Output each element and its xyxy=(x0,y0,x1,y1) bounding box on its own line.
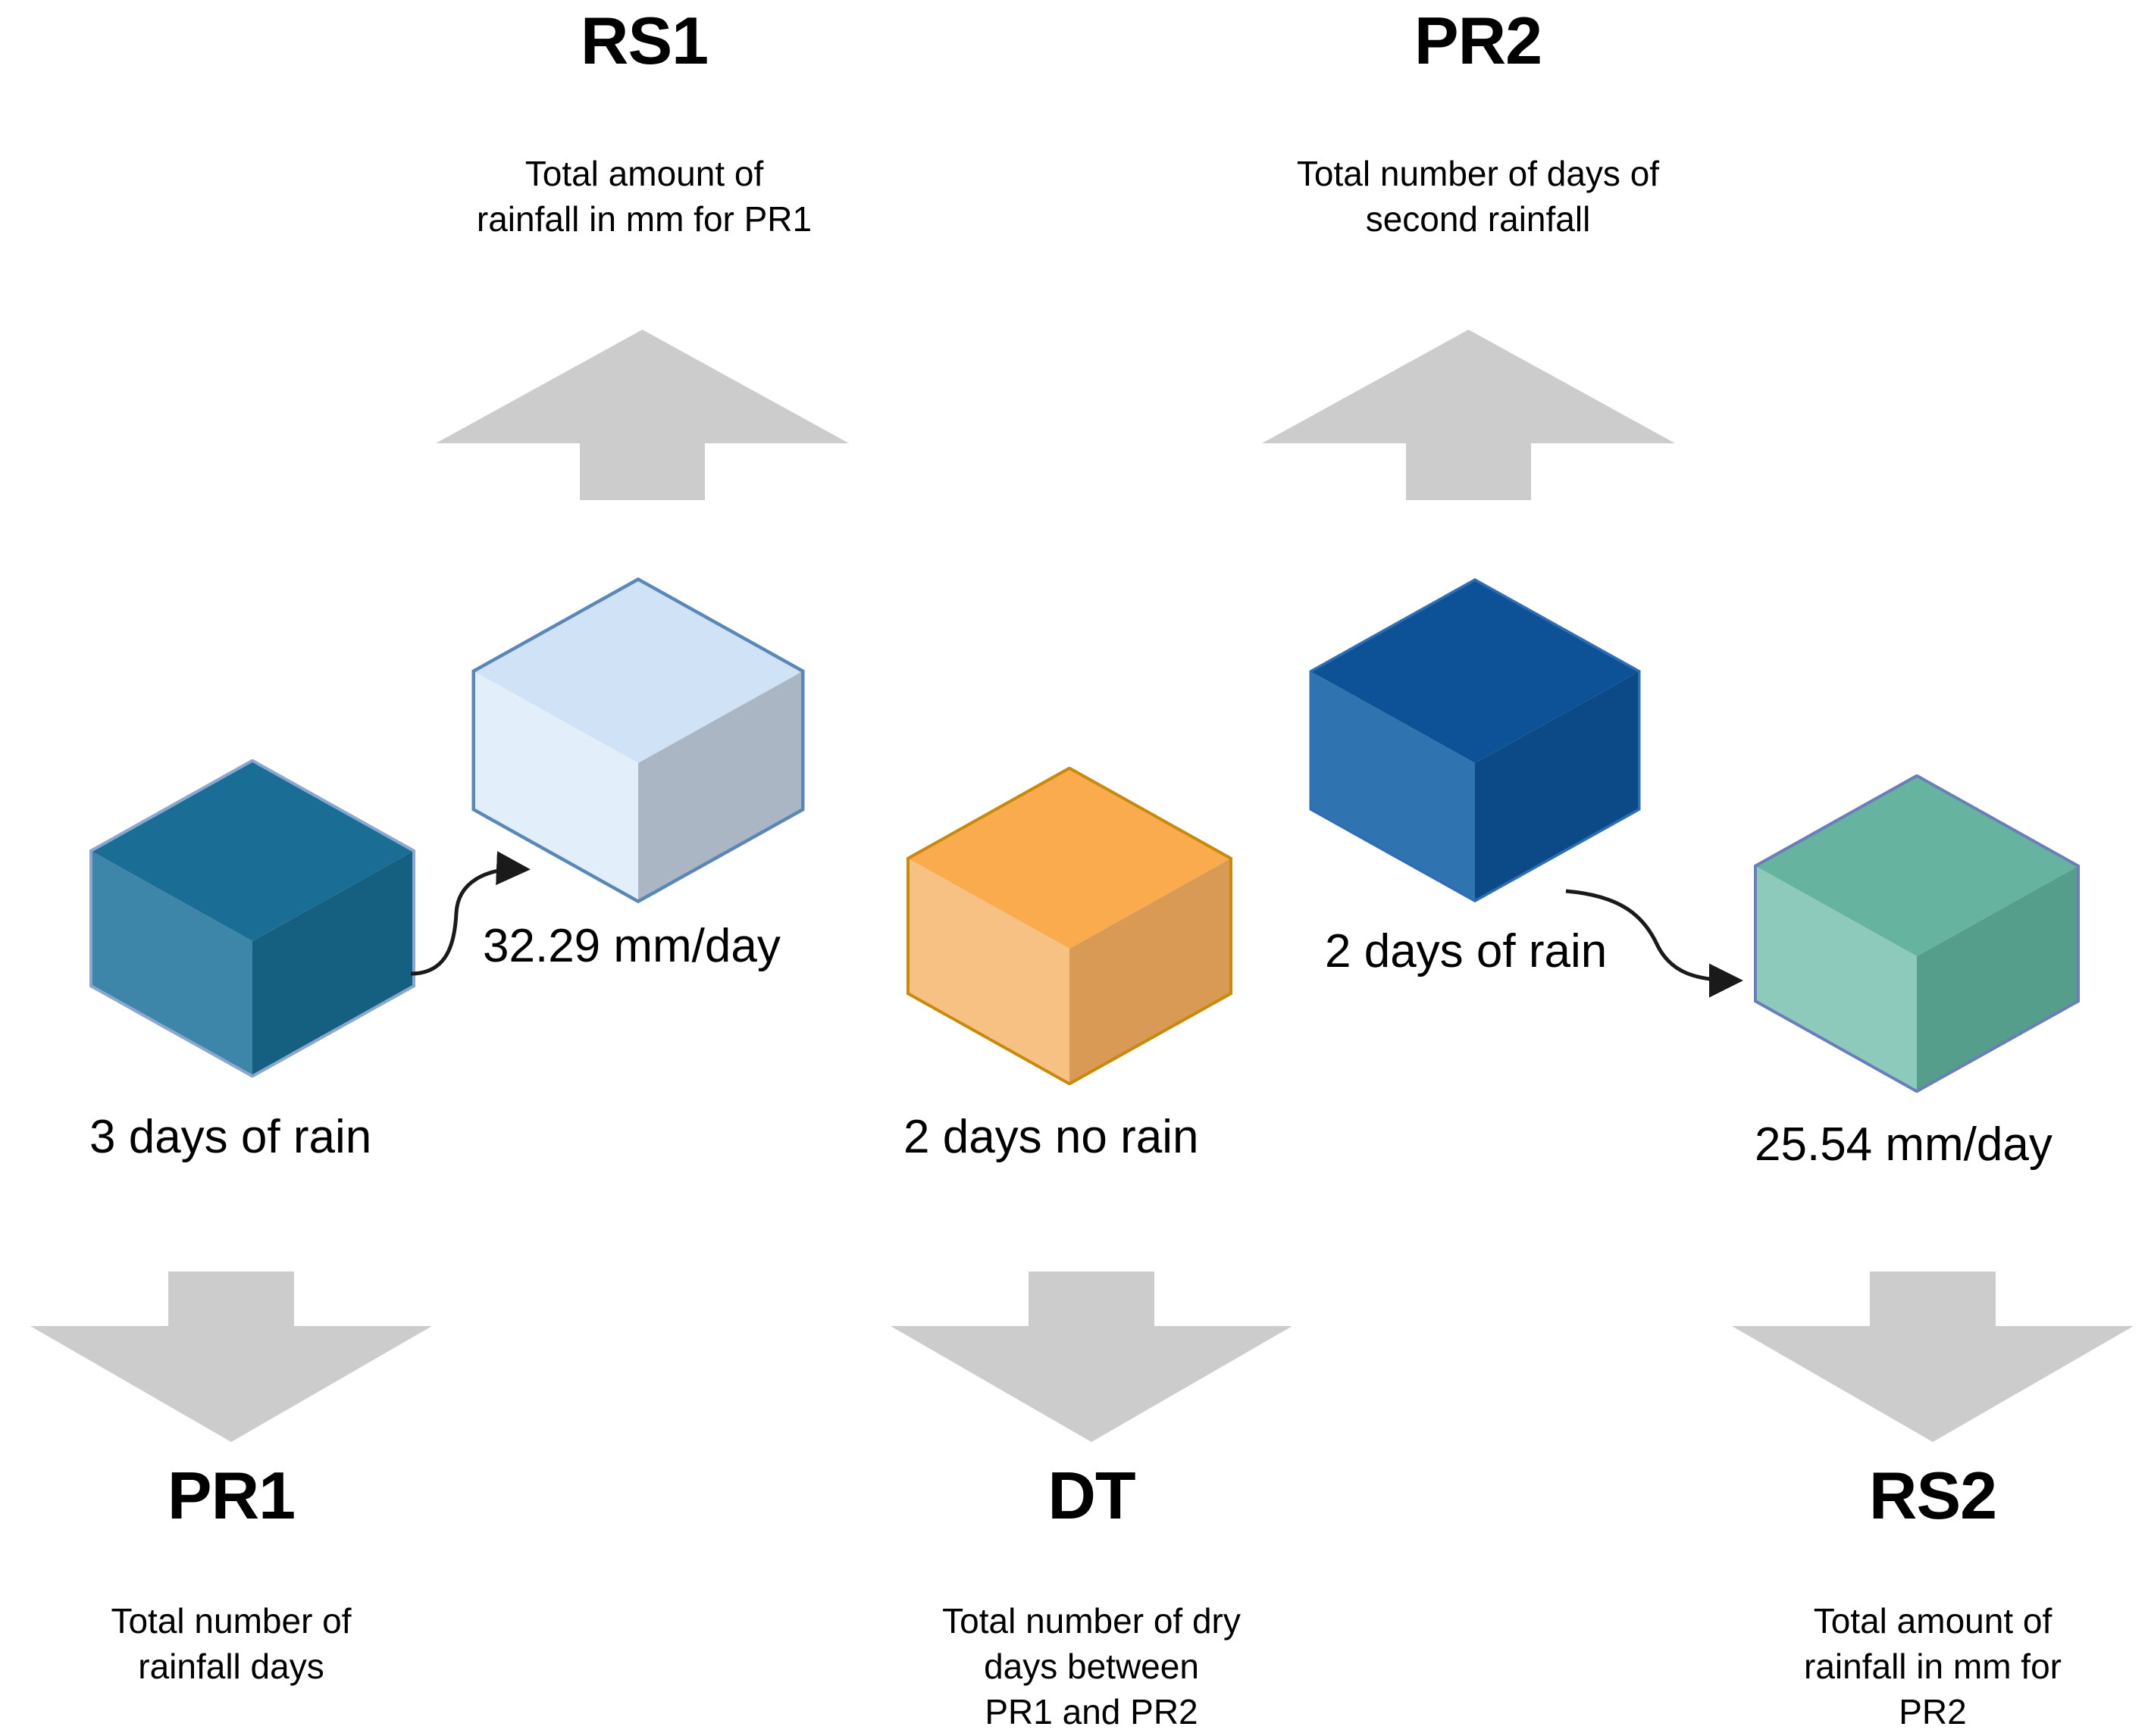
description-dt: Total number of dry days between PR1 and… xyxy=(917,1599,1266,1734)
description-rs1: Total amount of rainfall in mm for PR1 xyxy=(432,152,856,242)
description-pr2: Total number of days of second rainfall xyxy=(1251,152,1705,242)
heading-dt: DT xyxy=(917,1462,1266,1529)
arrow-down-block-icon-dt xyxy=(891,1272,1292,1442)
heading-rs2: RS2 xyxy=(1758,1462,2107,1529)
label-cube-rs1: 32.29 mm/day xyxy=(483,923,781,970)
arrow-down-block-icon-pr1 xyxy=(30,1272,432,1442)
diagram-canvas: RS1 Total amount of rainfall in mm for P… xyxy=(0,0,2148,1736)
description-rs1-line2: rainfall in mm for PR1 xyxy=(432,197,856,242)
description-rs2-line2: rainfall in mm for xyxy=(1758,1644,2107,1690)
description-rs2-line3: PR2 xyxy=(1758,1690,2107,1735)
cube-3d-icon-pr2 xyxy=(1308,577,1642,903)
cube-3d-icon-rs2 xyxy=(1754,774,2080,1093)
description-rs2: Total amount of rainfall in mm for PR2 xyxy=(1758,1599,2107,1734)
heading-rs1: RS1 xyxy=(470,8,819,74)
description-pr2-line1: Total number of days of xyxy=(1251,152,1705,197)
description-dt-line1: Total number of dry xyxy=(917,1599,1266,1644)
cube-3d-icon-dt xyxy=(906,767,1232,1085)
description-dt-line2: days between xyxy=(917,1644,1266,1690)
description-pr1: Total number of rainfall days xyxy=(57,1599,405,1690)
description-dt-line3: PR1 and PR2 xyxy=(917,1690,1266,1735)
label-cube-rs2: 25.54 mm/day xyxy=(1755,1121,2052,1168)
label-cube-pr1: 3 days of rain xyxy=(89,1114,371,1161)
heading-pr2: PR2 xyxy=(1266,8,1690,74)
heading-pr1: PR1 xyxy=(57,1462,405,1529)
arrow-up-block-icon-rs1 xyxy=(436,330,849,500)
arrow-up-block-icon-pr2 xyxy=(1262,330,1675,500)
description-pr2-line2: second rainfall xyxy=(1251,197,1705,242)
description-rs2-line1: Total amount of xyxy=(1758,1599,2107,1644)
arrow-down-block-icon-rs2 xyxy=(1732,1272,2134,1442)
curved-arrow-icon-pr2-to-rs2 xyxy=(1560,885,1780,1010)
description-pr1-line1: Total number of xyxy=(57,1599,405,1644)
description-pr1-line2: rainfall days xyxy=(57,1644,405,1690)
description-rs1-line1: Total amount of xyxy=(432,152,856,197)
cube-3d-icon-pr1 xyxy=(89,759,415,1078)
label-cube-dt: 2 days no rain xyxy=(903,1114,1198,1161)
